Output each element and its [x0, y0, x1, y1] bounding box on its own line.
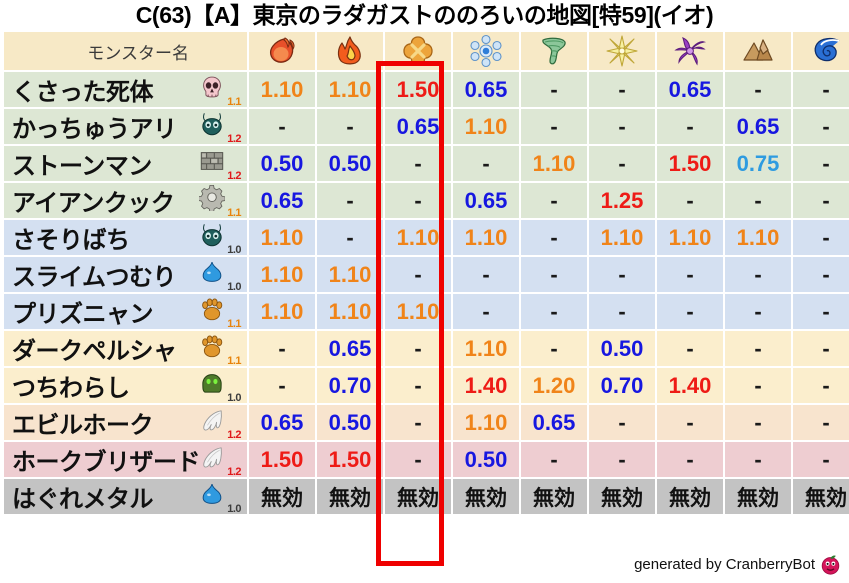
resistance-cell: 1.10 [317, 72, 383, 107]
resistance-value: - [278, 373, 285, 398]
resistance-value: 1.10 [465, 410, 508, 435]
monster-icon-wrap: 1.1 [197, 331, 241, 366]
resistance-value: - [414, 447, 421, 472]
resistance-value: - [822, 225, 829, 250]
resistance-cell: - [317, 183, 383, 218]
resistance-cell: - [521, 442, 587, 477]
monster-name-label: はぐれメタル [12, 479, 153, 514]
resistance-cell: - [385, 183, 451, 218]
resistance-value: 1.40 [669, 373, 712, 398]
resistance-cell: - [657, 257, 723, 292]
monster-version-label: 1.1 [227, 356, 241, 367]
insect-icon [199, 111, 225, 137]
resistance-cell: 無効 [657, 479, 723, 514]
resistance-value: - [822, 262, 829, 287]
resistance-value: 1.10 [261, 77, 304, 102]
wing-icon [199, 407, 225, 433]
resistance-value: 1.10 [329, 77, 372, 102]
resistance-cell: - [385, 331, 451, 366]
resistance-cell: - [725, 183, 791, 218]
resistance-value: 1.10 [329, 299, 372, 324]
resistance-value: - [754, 410, 761, 435]
resistance-value: 0.75 [737, 151, 780, 176]
resistance-cell: 1.10 [385, 294, 451, 329]
table-row: ダークペルシャ1.1-0.65-1.10-0.50--- [4, 331, 849, 366]
resistance-value: 1.10 [465, 114, 508, 139]
resistance-value: - [550, 447, 557, 472]
paw-icon [199, 296, 225, 322]
resistance-cell: - [249, 109, 315, 144]
resistance-cell: - [589, 146, 655, 181]
resistance-value: 1.50 [397, 77, 440, 102]
monster-icon-wrap: 1.1 [197, 183, 241, 218]
resistance-value: 1.10 [465, 225, 508, 250]
resistance-cell: - [793, 146, 849, 181]
resistance-cell: - [725, 257, 791, 292]
monster-version-label: 1.2 [227, 467, 241, 478]
resistance-value: 1.10 [465, 336, 508, 361]
column-header-explosion[interactable] [385, 32, 451, 70]
lightning-icon [605, 34, 639, 68]
resistance-value: - [754, 447, 761, 472]
monster-name-cell[interactable]: はぐれメタル1.0 [4, 479, 247, 514]
resistance-cell: 1.10 [453, 220, 519, 255]
resistance-cell: 0.65 [249, 183, 315, 218]
resistance-cell: - [725, 442, 791, 477]
skull-icon [199, 74, 225, 100]
resistance-cell: - [793, 183, 849, 218]
monster-version-label: 1.0 [227, 504, 241, 515]
resistance-cell: 1.10 [453, 331, 519, 366]
resistance-cell: - [793, 368, 849, 403]
table-row: かっちゅうアリ1.2--0.651.10---0.65- [4, 109, 849, 144]
monster-version-label: 1.1 [227, 319, 241, 330]
resistance-cell: 無効 [725, 479, 791, 514]
resistance-cell: - [793, 72, 849, 107]
monster-version-label: 1.0 [227, 282, 241, 293]
resistance-value: - [414, 151, 421, 176]
column-header-snowflake[interactable] [453, 32, 519, 70]
resistance-value: 0.65 [533, 410, 576, 435]
resistance-cell: - [521, 109, 587, 144]
resistance-cell: - [657, 405, 723, 440]
resistance-value: 1.10 [261, 262, 304, 287]
resistance-value: - [754, 77, 761, 102]
monster-name-label: さそりばち [12, 220, 130, 255]
resistance-value: - [754, 299, 761, 324]
resistance-value: - [822, 410, 829, 435]
resistance-cell: 1.40 [657, 368, 723, 403]
monster-name-label: アイアンクック [12, 183, 174, 218]
resistance-value: 0.65 [261, 410, 304, 435]
resistance-cell: 0.65 [249, 405, 315, 440]
explosion-icon [401, 34, 435, 68]
resistance-cell: 0.50 [249, 146, 315, 181]
monster-icon-wrap: 1.1 [197, 72, 241, 107]
paw-icon [199, 333, 225, 359]
monster-name-label: つちわらし [12, 368, 130, 403]
resistance-value: 無効 [533, 487, 575, 510]
resistance-value: - [686, 410, 693, 435]
resistance-value: - [618, 151, 625, 176]
resistance-cell: - [249, 331, 315, 366]
resistance-value: 0.70 [329, 373, 372, 398]
monster-icon-wrap: 1.1 [197, 294, 241, 329]
monster-name-label: かっちゅうアリ [12, 109, 177, 144]
resistance-cell: 無効 [793, 479, 849, 514]
resistance-cell: 1.50 [385, 72, 451, 107]
resistance-value: 0.70 [601, 373, 644, 398]
resistance-cell: 1.50 [317, 442, 383, 477]
resistance-value: 1.10 [601, 225, 644, 250]
resistance-cell: 0.70 [589, 368, 655, 403]
resistance-cell: - [385, 442, 451, 477]
monster-name-cell[interactable]: ホークブリザード1.2 [4, 442, 247, 477]
resistance-cell: - [725, 368, 791, 403]
resistance-cell: - [589, 257, 655, 292]
monster-name-label: ダークペルシャ [12, 331, 177, 366]
resistance-cell: - [521, 183, 587, 218]
resistance-value: 0.50 [329, 151, 372, 176]
resistance-value: - [618, 114, 625, 139]
table-row: スライムつむり1.01.101.10------- [4, 257, 849, 292]
monster-icon-wrap: 1.2 [197, 109, 241, 144]
resistance-value: - [686, 299, 693, 324]
resistance-cell: 0.75 [725, 146, 791, 181]
resistance-value: - [618, 410, 625, 435]
monster-name-cell[interactable]: つちわらし1.0 [4, 368, 247, 403]
resistance-value: 無効 [397, 487, 439, 510]
brick-icon [199, 148, 225, 174]
monster-name-label: プリズニャン [12, 294, 153, 329]
resistance-cell: 0.50 [589, 331, 655, 366]
monster-icon-wrap: 1.0 [197, 479, 241, 514]
resistance-cell: - [385, 146, 451, 181]
resistance-value: - [754, 262, 761, 287]
resistance-value: - [686, 447, 693, 472]
resistance-value: 0.50 [465, 447, 508, 472]
fireball-icon [265, 34, 299, 68]
resistance-value: - [414, 188, 421, 213]
resistance-cell: - [793, 331, 849, 366]
resistance-cell: 1.10 [657, 220, 723, 255]
resistance-cell: 1.50 [249, 442, 315, 477]
resistance-value: 0.65 [737, 114, 780, 139]
resistance-value: - [414, 410, 421, 435]
resistance-value: - [414, 262, 421, 287]
column-header-monster-name: モンスター名 [4, 32, 247, 70]
resistance-value: 1.10 [329, 262, 372, 287]
resistance-cell: 0.50 [317, 146, 383, 181]
resistance-value: - [482, 262, 489, 287]
resistance-value: 無効 [465, 487, 507, 510]
resistance-value: - [414, 336, 421, 361]
resistance-cell: - [249, 368, 315, 403]
resistance-value: - [278, 114, 285, 139]
monster-name-label: くさった死体 [12, 72, 153, 107]
resistance-value: 無効 [805, 487, 847, 510]
resistance-cell: - [589, 442, 655, 477]
resistance-cell: 0.65 [657, 72, 723, 107]
resistance-cell: 1.10 [317, 294, 383, 329]
resistance-cell: - [453, 294, 519, 329]
resistance-cell: 0.65 [317, 331, 383, 366]
slime-icon [199, 481, 225, 507]
resistance-cell: 1.10 [249, 220, 315, 255]
resistance-cell: 0.65 [453, 183, 519, 218]
resistance-value: - [550, 114, 557, 139]
resistance-value: - [686, 188, 693, 213]
gear-icon [199, 185, 225, 211]
whirl-icon [673, 34, 707, 68]
resistance-value: 1.50 [329, 447, 372, 472]
monster-icon-wrap: 1.0 [197, 257, 241, 292]
resistance-value: 1.10 [533, 151, 576, 176]
resistance-cell: - [385, 405, 451, 440]
resistance-value: - [550, 188, 557, 213]
resistance-cell: 0.65 [521, 405, 587, 440]
resistance-cell: - [793, 109, 849, 144]
resistance-value: 0.65 [669, 77, 712, 102]
column-header-whirl[interactable] [657, 32, 723, 70]
resistance-value: 0.65 [465, 188, 508, 213]
resistance-cell: - [725, 294, 791, 329]
resistance-value: - [822, 299, 829, 324]
resistance-value: 0.50 [329, 410, 372, 435]
table-row: つちわらし1.0-0.70-1.401.200.701.40-- [4, 368, 849, 403]
resistance-value: - [822, 151, 829, 176]
resistance-cell: 無効 [249, 479, 315, 514]
column-header-tornado[interactable] [521, 32, 587, 70]
cranberry-icon [820, 554, 841, 575]
resistance-cell: - [725, 72, 791, 107]
snowflake-icon [469, 34, 503, 68]
resistance-cell: 無効 [385, 479, 451, 514]
monster-version-label: 1.1 [227, 208, 241, 219]
resistance-cell: - [725, 331, 791, 366]
resistance-value: 1.10 [261, 225, 304, 250]
resistance-cell: 無効 [453, 479, 519, 514]
resistance-value: 無効 [669, 487, 711, 510]
monster-name-cell[interactable]: プリズニャン1.1 [4, 294, 247, 329]
resistance-value: 0.65 [397, 114, 440, 139]
monster-name-cell[interactable]: アイアンクック1.1 [4, 183, 247, 218]
resistance-value: 0.50 [261, 151, 304, 176]
monster-name-cell[interactable]: エビルホーク1.2 [4, 405, 247, 440]
resistance-cell: - [589, 109, 655, 144]
tornado-icon [537, 34, 571, 68]
monster-version-label: 1.1 [227, 97, 241, 108]
resistance-value: 0.65 [465, 77, 508, 102]
resistance-value: - [346, 225, 353, 250]
column-header-flame[interactable] [317, 32, 383, 70]
resistance-cell: 無効 [521, 479, 587, 514]
monster-name-label: ストーンマン [12, 146, 152, 181]
resistance-cell: - [317, 109, 383, 144]
column-header-fireball[interactable] [249, 32, 315, 70]
resistance-value: - [618, 299, 625, 324]
resistance-value: - [754, 188, 761, 213]
resistance-cell: - [521, 72, 587, 107]
resistance-value: - [822, 336, 829, 361]
column-header-rock[interactable] [725, 32, 791, 70]
monster-icon-wrap: 1.0 [197, 368, 241, 403]
monster-version-label: 1.2 [227, 134, 241, 145]
resistance-cell: 1.10 [317, 257, 383, 292]
resistance-value: - [278, 336, 285, 361]
footer-text: generated by CranberryBot [634, 556, 815, 573]
resistance-cell: - [657, 109, 723, 144]
resistance-cell: - [521, 257, 587, 292]
monster-name-cell[interactable]: スライムつむり1.0 [4, 257, 247, 292]
monster-name-cell[interactable]: ダークペルシャ1.1 [4, 331, 247, 366]
monster-name-cell[interactable]: ストーンマン1.2 [4, 146, 247, 181]
resistance-table-wrapper: モンスター名 くさった死体1.11.101.101.500.65--0.65--… [0, 30, 849, 516]
table-row: はぐれメタル1.0無効無効無効無効無効無効無効無効無効 [4, 479, 849, 514]
monster-name-label: ホークブリザード [12, 442, 200, 477]
monster-name-label: スライムつむり [12, 257, 176, 292]
resistance-cell: - [657, 331, 723, 366]
resistance-value: - [346, 188, 353, 213]
monster-version-label: 1.2 [227, 430, 241, 441]
resistance-value: 無効 [329, 487, 371, 510]
monster-icon-wrap: 1.0 [197, 220, 241, 255]
resistance-value: 1.50 [261, 447, 304, 472]
resistance-value: - [686, 336, 693, 361]
table-row: ストーンマン1.20.500.50--1.10-1.500.75- [4, 146, 849, 181]
resistance-value: - [822, 373, 829, 398]
flame-icon [333, 34, 367, 68]
resistance-value: 1.10 [397, 299, 440, 324]
slime-icon [199, 259, 225, 285]
resistance-value: 1.25 [601, 188, 644, 213]
resistance-value: 0.65 [329, 336, 372, 361]
resistance-cell: 1.10 [725, 220, 791, 255]
resistance-cell: - [793, 220, 849, 255]
monster-name-label: エビルホーク [12, 405, 153, 440]
resistance-cell: 無効 [317, 479, 383, 514]
monster-icon-wrap: 1.2 [197, 442, 241, 477]
resistance-cell: 無効 [589, 479, 655, 514]
resistance-cell: 1.25 [589, 183, 655, 218]
monster-name-cell[interactable]: かっちゅうアリ1.2 [4, 109, 247, 144]
resistance-cell: - [657, 294, 723, 329]
resistance-cell: 1.10 [249, 294, 315, 329]
resistance-cell: - [657, 442, 723, 477]
resistance-value: 0.65 [261, 188, 304, 213]
insect-icon [199, 222, 225, 248]
resistance-value: - [550, 225, 557, 250]
page-title: C(63)【A】東京のラダガストののろいの地図[特59](イオ) [0, 0, 849, 30]
resistance-value: - [822, 77, 829, 102]
resistance-cell: 1.10 [385, 220, 451, 255]
resistance-value: 1.10 [397, 225, 440, 250]
resistance-cell: - [385, 257, 451, 292]
resistance-value: - [482, 299, 489, 324]
resistance-cell: - [453, 146, 519, 181]
column-header-lightning[interactable] [589, 32, 655, 70]
resistance-value: - [346, 114, 353, 139]
resistance-value: 無効 [261, 487, 303, 510]
resistance-cell: - [385, 368, 451, 403]
resistance-value: - [550, 77, 557, 102]
monster-icon-wrap: 1.2 [197, 405, 241, 440]
resistance-cell: 0.70 [317, 368, 383, 403]
monster-name-cell[interactable]: さそりばち1.0 [4, 220, 247, 255]
resistance-cell: 1.10 [453, 405, 519, 440]
resistance-cell: - [317, 220, 383, 255]
resistance-value: - [618, 447, 625, 472]
resistance-value: - [754, 373, 761, 398]
resistance-cell: 1.40 [453, 368, 519, 403]
monster-version-label: 1.2 [227, 171, 241, 182]
resistance-cell: - [657, 183, 723, 218]
resistance-cell: 1.10 [589, 220, 655, 255]
resistance-value: 無効 [601, 487, 643, 510]
resistance-cell: 1.10 [249, 72, 315, 107]
table-row: くさった死体1.11.101.101.500.65--0.65-- [4, 72, 849, 107]
resistance-cell: 0.65 [453, 72, 519, 107]
monster-icon-wrap: 1.2 [197, 146, 241, 181]
resistance-cell: 0.65 [725, 109, 791, 144]
resistance-value: - [550, 336, 557, 361]
resistance-value: - [618, 77, 625, 102]
table-row: エビルホーク1.20.650.50-1.100.65---- [4, 405, 849, 440]
resistance-cell: - [589, 294, 655, 329]
column-header-wave[interactable] [793, 32, 849, 70]
resistance-cell: 0.50 [317, 405, 383, 440]
monster-name-cell[interactable]: くさった死体1.1 [4, 72, 247, 107]
resistance-cell: 1.10 [249, 257, 315, 292]
resistance-cell: 1.50 [657, 146, 723, 181]
resistance-value: - [618, 262, 625, 287]
resistance-value: - [822, 447, 829, 472]
resistance-value: 0.50 [601, 336, 644, 361]
resistance-cell: 1.10 [453, 109, 519, 144]
resistance-value: 1.10 [261, 299, 304, 324]
resistance-value: 1.40 [465, 373, 508, 398]
resistance-value: - [550, 299, 557, 324]
resistance-value: 1.10 [737, 225, 780, 250]
resistance-cell: - [793, 442, 849, 477]
resistance-cell: - [521, 220, 587, 255]
footer: generated by CranberryBot [634, 551, 841, 577]
resistance-value: - [754, 336, 761, 361]
resistance-value: - [414, 373, 421, 398]
resistance-value: 無効 [737, 487, 779, 510]
table-row: プリズニャン1.11.101.101.10------ [4, 294, 849, 329]
resistance-cell: - [793, 405, 849, 440]
resistance-value: 1.50 [669, 151, 712, 176]
resistance-cell: - [725, 405, 791, 440]
resistance-cell: - [589, 72, 655, 107]
resistance-cell: 0.65 [385, 109, 451, 144]
resistance-value: - [822, 188, 829, 213]
resistance-cell: - [793, 294, 849, 329]
wave-icon [809, 34, 843, 68]
resistance-cell: 1.10 [521, 146, 587, 181]
resistance-value: - [482, 151, 489, 176]
resistance-value: - [550, 262, 557, 287]
jelly-icon [199, 370, 225, 396]
table-row: アイアンクック1.10.65--0.65-1.25--- [4, 183, 849, 218]
resistance-cell: - [521, 331, 587, 366]
resistance-value: 1.20 [533, 373, 576, 398]
resistance-cell: - [589, 405, 655, 440]
monster-version-label: 1.0 [227, 245, 241, 256]
rock-icon [741, 34, 775, 68]
resistance-cell: 0.50 [453, 442, 519, 477]
